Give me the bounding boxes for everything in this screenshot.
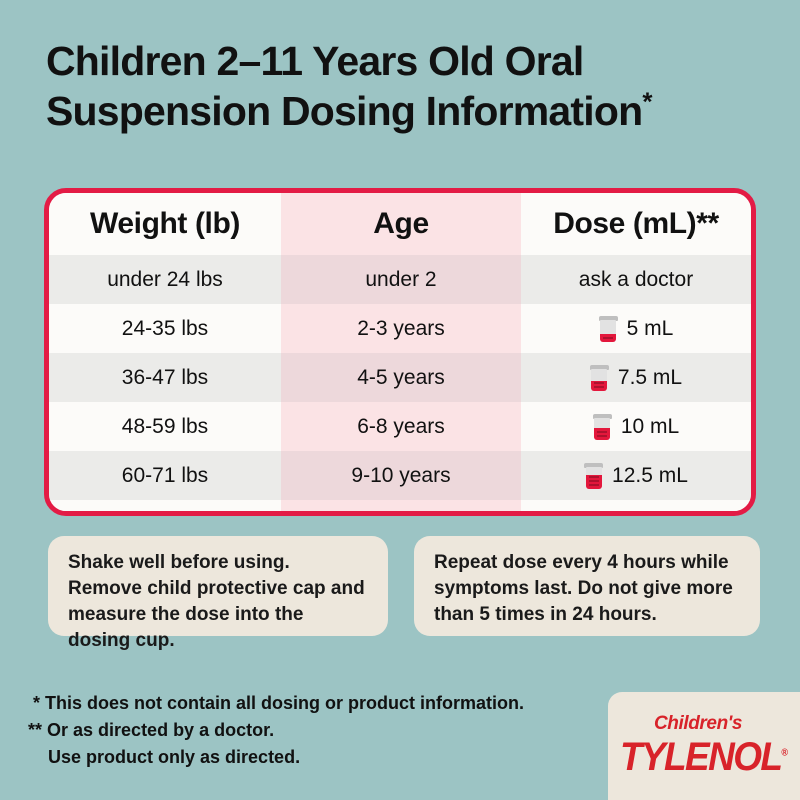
- cell-dose: 15 mL: [521, 500, 751, 516]
- footnote-3: Use product only as directed.: [28, 744, 588, 771]
- cell-weight: 36-47 lbs: [49, 353, 281, 402]
- note-repeat-dose: Repeat dose every 4 hours while symptoms…: [414, 536, 760, 636]
- page-title: Children 2–11 Years Old Oral Suspension …: [46, 36, 766, 136]
- table-row: 36-47 lbs4-5 years7.5 mL: [49, 353, 751, 402]
- cell-age: 4-5 years: [281, 353, 521, 402]
- column-header-age: Age: [281, 193, 521, 255]
- title-line-1: Children 2–11 Years Old Oral: [46, 38, 583, 84]
- dosing-cup-icon: [584, 463, 603, 489]
- table-row: 48-59 lbs6-8 years10 mL: [49, 402, 751, 451]
- dosing-cup-icon: [599, 316, 618, 342]
- dosing-cup-icon: [593, 512, 612, 517]
- registered-trademark-icon: ®: [781, 747, 788, 758]
- dose-amount-label: ask a doctor: [579, 268, 693, 292]
- cell-weight: 72-95 lbs: [49, 500, 281, 516]
- cell-age: under 2: [281, 255, 521, 304]
- table-header-row: Weight (lb) Age Dose (mL)**: [49, 193, 751, 255]
- cell-age: 9-10 years: [281, 451, 521, 500]
- dosing-cup-icon: [590, 365, 609, 391]
- dose-value-group: 12.5 mL: [584, 463, 688, 489]
- cell-dose: 5 mL: [521, 304, 751, 353]
- cup-measure-line: [594, 386, 604, 388]
- brand-logo: Children's TYLENOL®: [620, 714, 788, 773]
- cup-liquid-fill: [594, 428, 610, 439]
- cup-body: [591, 369, 607, 391]
- logo-tylenol-text: TYLENOL®: [620, 733, 788, 777]
- cell-weight: 24-35 lbs: [49, 304, 281, 353]
- cup-rim: [593, 512, 612, 517]
- cell-weight: 48-59 lbs: [49, 402, 281, 451]
- logo-childrens-text: Children's: [654, 714, 788, 733]
- brand-logo-panel: Children's TYLENOL®: [608, 692, 800, 800]
- cell-dose: 12.5 mL: [521, 451, 751, 500]
- cell-age: 6-8 years: [281, 402, 521, 451]
- table-row: 24-35 lbs2-3 years5 mL: [49, 304, 751, 353]
- note-shake-well: Shake well before using. Remove child pr…: [48, 536, 388, 636]
- cell-age: 11 years: [281, 500, 521, 516]
- cup-measure-line: [589, 484, 599, 486]
- cell-weight: under 24 lbs: [49, 255, 281, 304]
- title-asterisk: *: [642, 86, 651, 116]
- cup-measure-line: [597, 431, 607, 433]
- cup-body: [594, 516, 610, 517]
- dose-amount-label: 15 mL: [621, 513, 679, 517]
- dose-value-group: 15 mL: [593, 512, 679, 517]
- dose-amount-label: 5 mL: [627, 317, 674, 341]
- cell-dose: 7.5 mL: [521, 353, 751, 402]
- table-row: 60-71 lbs9-10 years12.5 mL: [49, 451, 751, 500]
- footnotes: * This does not contain all dosing or pr…: [28, 690, 588, 771]
- cup-body: [594, 418, 610, 440]
- dose-value-group: 10 mL: [593, 414, 679, 440]
- dosing-cup-icon: [593, 414, 612, 440]
- dose-value-group: 7.5 mL: [590, 365, 682, 391]
- title-line-2: Suspension Dosing Information: [46, 88, 642, 134]
- cup-measure-line: [594, 382, 604, 384]
- cup-measure-line: [603, 337, 613, 339]
- column-header-dose: Dose (mL)**: [521, 193, 751, 255]
- column-header-weight: Weight (lb): [49, 193, 281, 255]
- dosing-table-body: Weight (lb) Age Dose (mL)** under 24 lbs…: [49, 193, 751, 511]
- cell-dose: ask a doctor: [521, 255, 751, 304]
- footnote-1: * This does not contain all dosing or pr…: [28, 690, 588, 717]
- table-row: under 24 lbsunder 2ask a doctor: [49, 255, 751, 304]
- cell-weight: 60-71 lbs: [49, 451, 281, 500]
- dose-amount-label: 10 mL: [621, 415, 679, 439]
- cup-measure-line: [589, 476, 599, 478]
- dosing-table: Weight (lb) Age Dose (mL)** under 24 lbs…: [44, 188, 756, 516]
- dose-amount-label: 7.5 mL: [618, 366, 682, 390]
- footnote-2: ** Or as directed by a doctor.: [28, 717, 588, 744]
- cell-dose: 10 mL: [521, 402, 751, 451]
- table-row: 72-95 lbs11 years15 mL: [49, 500, 751, 516]
- cup-body: [600, 320, 616, 342]
- cup-measure-line: [589, 480, 599, 482]
- dose-amount-label: 12.5 mL: [612, 464, 688, 488]
- cup-measure-line: [597, 435, 607, 437]
- cell-age: 2-3 years: [281, 304, 521, 353]
- dose-value-group: 5 mL: [599, 316, 674, 342]
- cup-body: [586, 467, 602, 489]
- logo-tylenol-word: TYLENOL: [620, 735, 781, 779]
